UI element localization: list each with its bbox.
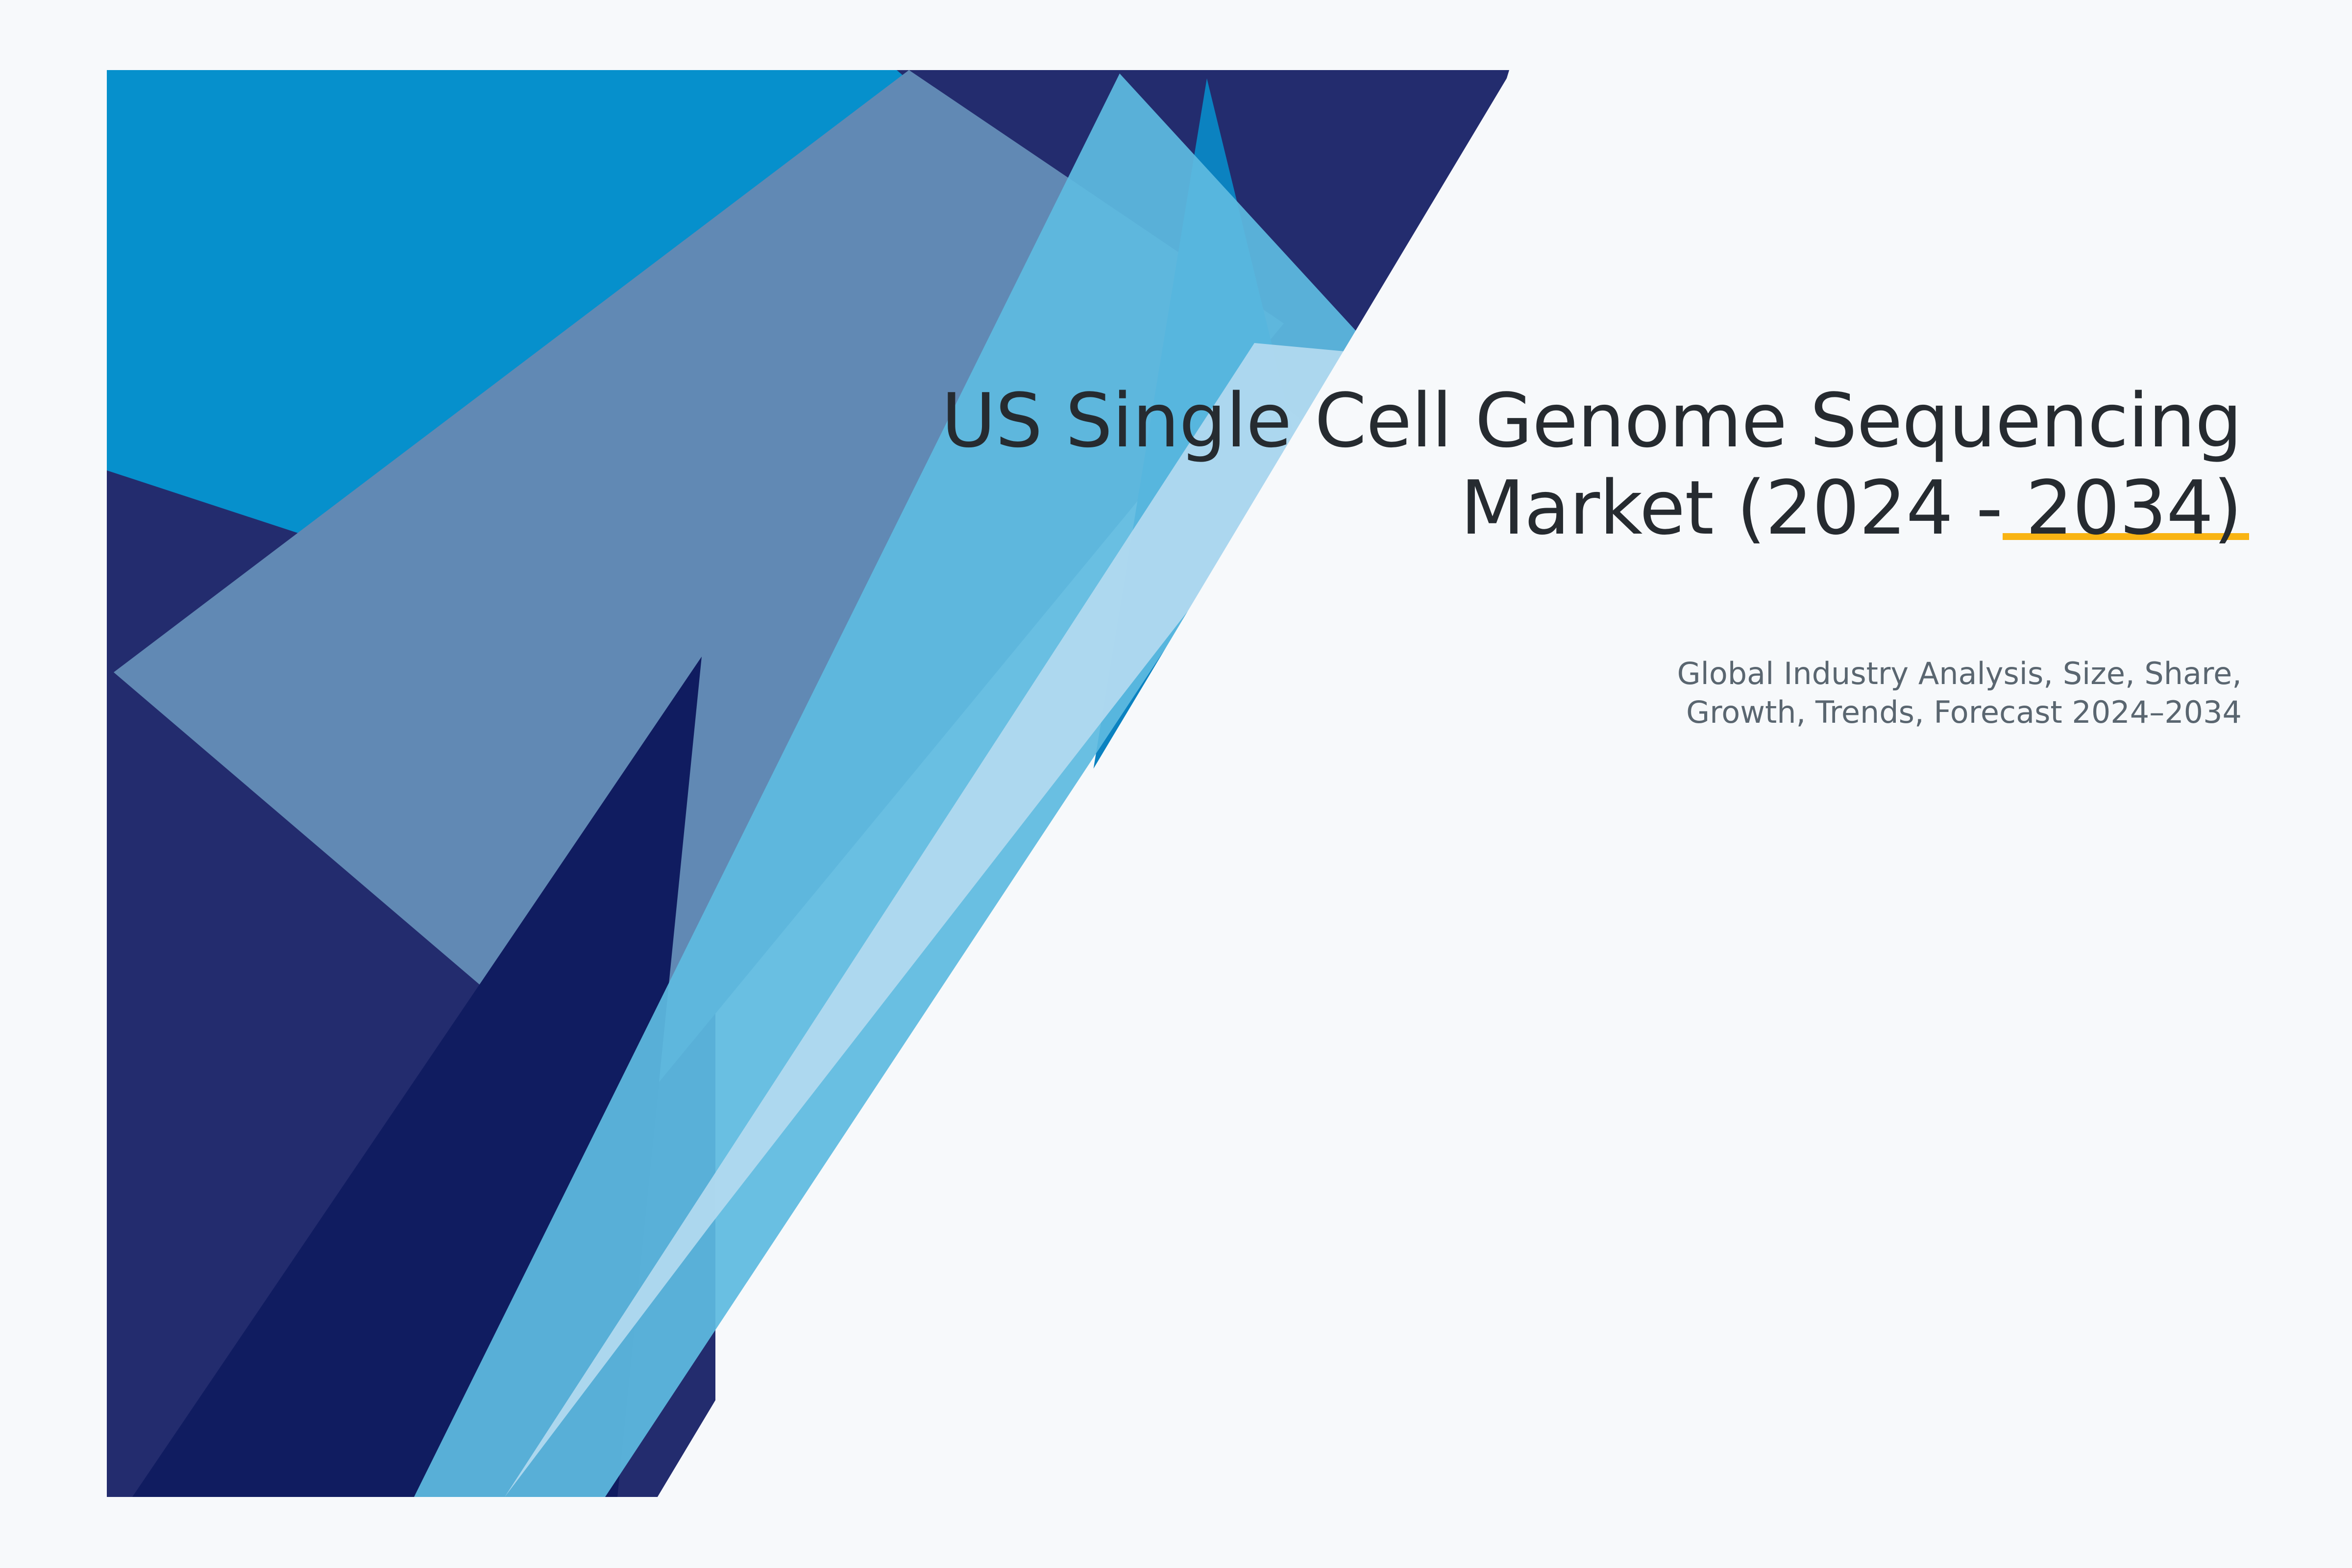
artwork-bottom-mask	[0, 1498, 2352, 1568]
page-title: US Single Cell Genome Sequencing Market …	[833, 377, 2242, 552]
artwork-top-mask	[0, 0, 2352, 70]
page-subtitle: Global Industry Analysis, Size, Share, G…	[833, 654, 2242, 732]
cover-text-block: US Single Cell Genome Sequencing Market …	[833, 377, 2242, 552]
cover-page: US Single Cell Genome Sequencing Market …	[0, 0, 2352, 1568]
abstract-polygon-artwork	[0, 0, 2352, 1568]
artwork-left-mask	[0, 0, 106, 1568]
